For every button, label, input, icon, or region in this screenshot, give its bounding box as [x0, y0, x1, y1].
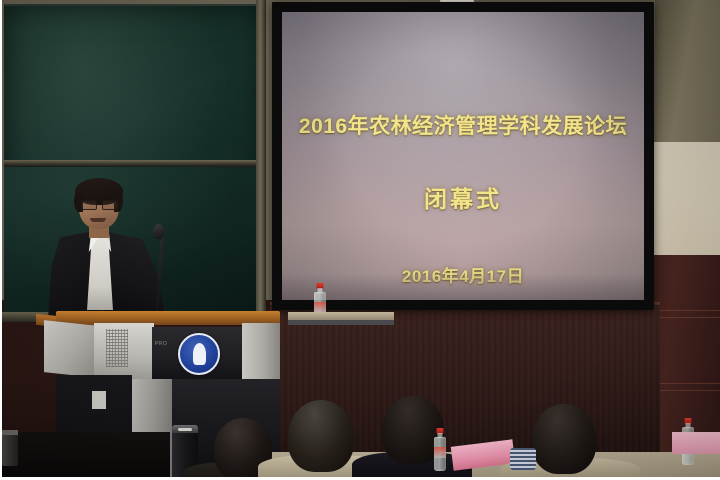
speaker	[46, 176, 186, 326]
waste-bin-slot	[178, 428, 192, 431]
lectern-brand-text: PRO	[155, 341, 167, 347]
lectern-right-post	[242, 323, 280, 381]
screen-shading	[282, 274, 644, 300]
foreground-desk-left	[0, 432, 170, 480]
slide-title: 2016年农林经济管理学科发展论坛	[282, 110, 644, 140]
lectern-left-panel	[44, 320, 98, 378]
front-desk-edge	[288, 320, 394, 325]
lecture-hall-photo: 2016年农林经济管理学科发展论坛 闭幕式 2016年4月17日	[0, 0, 720, 480]
slide-subtitle: 闭幕式	[282, 180, 644, 214]
audience-head	[532, 404, 596, 474]
screen-vignette	[282, 12, 644, 300]
thermos-cup	[2, 432, 18, 466]
projection-screen: 2016年农林经济管理学科发展论坛 闭幕式 2016年4月17日	[282, 12, 644, 300]
pink-handout	[672, 432, 720, 454]
photo-border	[0, 0, 2, 480]
university-emblem	[178, 333, 220, 375]
striped-sleeve	[510, 448, 536, 470]
audience-head	[288, 400, 354, 472]
chalkboard-frame	[256, 0, 266, 318]
mouth	[90, 218, 106, 222]
microphone-icon	[153, 224, 164, 239]
chalk-rail	[4, 160, 262, 167]
right-wall-upper	[655, 0, 720, 150]
glasses	[80, 200, 118, 208]
thermos-cap	[2, 430, 18, 435]
water-bottle	[432, 428, 448, 472]
lectern-label-card	[92, 391, 106, 409]
speaker-grille	[106, 329, 128, 367]
